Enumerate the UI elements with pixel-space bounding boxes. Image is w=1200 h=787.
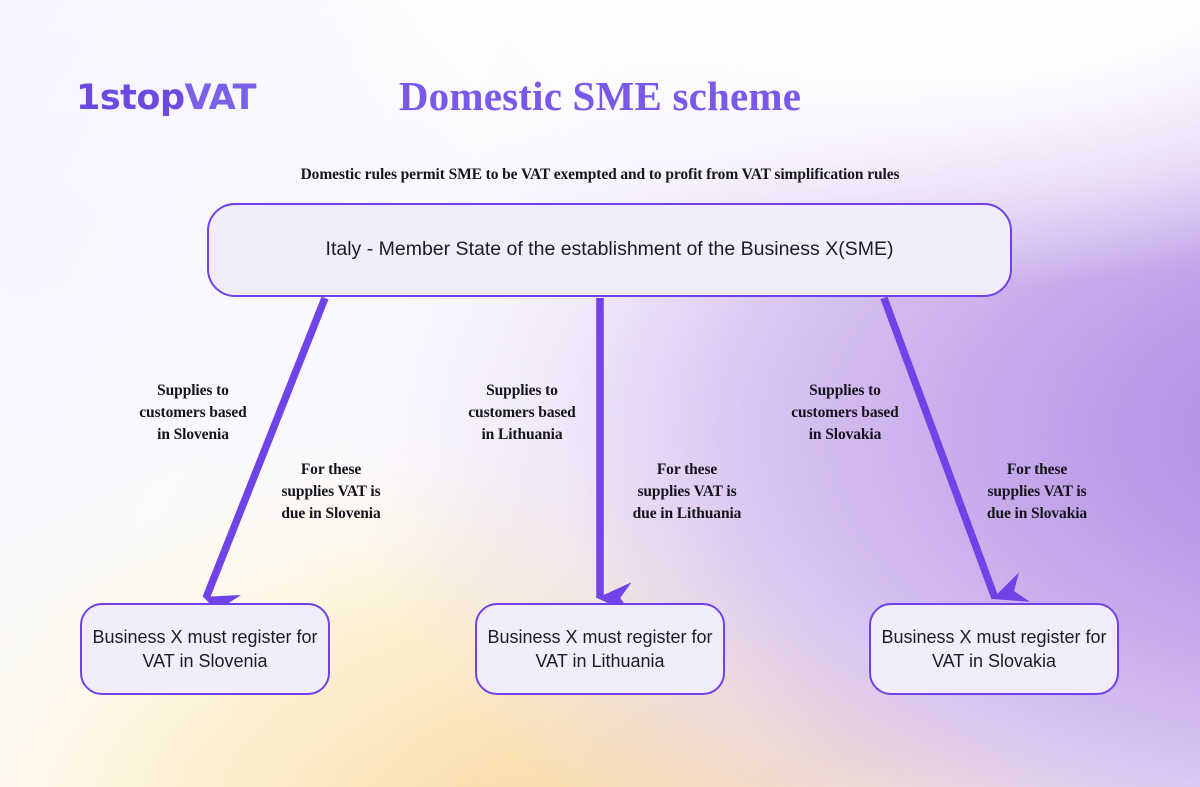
page-title: Domestic SME scheme <box>0 72 1200 120</box>
edge-label-supplies-slovenia: Supplies to customers based in Slovenia <box>96 380 290 446</box>
edge-label-vat-due-slovenia: For these supplies VAT is due in Sloveni… <box>234 459 428 525</box>
node-root-label: Italy - Member State of the establishmen… <box>326 237 894 262</box>
edge-label-supplies-lithuania: Supplies to customers based in Lithuania <box>425 380 619 446</box>
node-outcome-slovenia[interactable]: Business X must register for VAT in Slov… <box>80 603 330 695</box>
edge-label-supplies-slovakia: Supplies to customers based in Slovakia <box>748 380 942 446</box>
edge-label-vat-due-lithuania: For these supplies VAT is due in Lithuan… <box>590 459 784 525</box>
node-outcome-lithuania-label: Business X must register for VAT in Lith… <box>487 625 713 674</box>
edge-label-vat-due-slovakia: For these supplies VAT is due in Slovaki… <box>940 459 1134 525</box>
node-outcome-slovenia-label: Business X must register for VAT in Slov… <box>92 625 318 674</box>
node-outcome-slovakia-label: Business X must register for VAT in Slov… <box>881 625 1107 674</box>
diagram-canvas: 1stopVAT Domestic SME scheme Domestic ru… <box>0 0 1200 787</box>
arrow-to-slovakia <box>884 298 995 598</box>
page-subtitle: Domestic rules permit SME to be VAT exem… <box>0 166 1200 184</box>
arrow-to-slovenia <box>206 298 325 598</box>
node-outcome-slovakia[interactable]: Business X must register for VAT in Slov… <box>869 603 1119 695</box>
node-root[interactable]: Italy - Member State of the establishmen… <box>207 203 1012 297</box>
node-outcome-lithuania[interactable]: Business X must register for VAT in Lith… <box>475 603 725 695</box>
